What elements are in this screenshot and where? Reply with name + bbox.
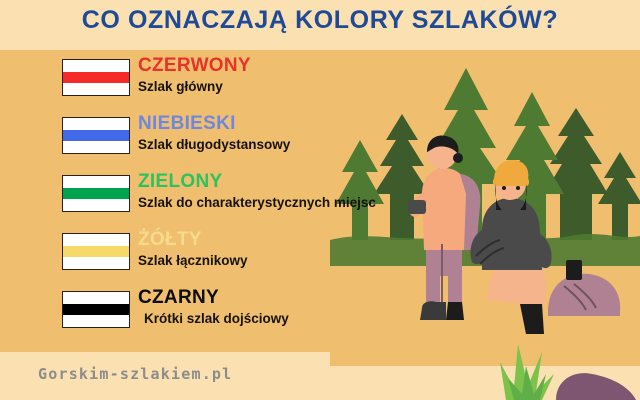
trail-marker-stripe	[63, 72, 129, 84]
legend-description-czarny: Krótki szlak dojściowy	[138, 310, 289, 327]
legend-description-zielony: Szlak do charakterystycznych miejsc	[138, 194, 376, 211]
legend-heading-czerwony: CZERWONY	[138, 55, 251, 76]
trail-marker-zolty	[62, 233, 130, 270]
legend-text-niebieski: NIEBIESKI Szlak długodystansowy	[138, 113, 290, 153]
legend-description-zolty: Szlak łącznikowy	[138, 252, 248, 269]
rock-purple	[556, 373, 636, 400]
trail-marker-stripe	[63, 188, 129, 200]
page-title: CO OZNACZAJĄ KOLORY SZLAKÓW?	[0, 6, 640, 35]
trail-color-legend: CZERWONY Szlak główny NIEBIESKI Szlak dł…	[0, 55, 380, 345]
trail-marker-zielony	[62, 175, 130, 212]
legend-heading-zielony: ZIELONY	[138, 171, 376, 192]
legend-heading-zolty: ŻÓŁTY	[138, 229, 248, 250]
legend-row-niebieski: NIEBIESKI Szlak długodystansowy	[0, 113, 380, 171]
legend-description-czerwony: Szlak główny	[138, 78, 251, 95]
trail-marker-stripe	[63, 246, 129, 258]
legend-row-zielony: ZIELONY Szlak do charakterystycznych mie…	[0, 171, 380, 229]
trail-marker-czarny	[62, 291, 130, 328]
legend-row-czerwony: CZERWONY Szlak główny	[0, 55, 380, 113]
legend-heading-niebieski: NIEBIESKI	[138, 113, 290, 134]
legend-row-czarny: CZARNY Krótki szlak dojściowy	[0, 287, 380, 345]
legend-text-zolty: ŻÓŁTY Szlak łącznikowy	[138, 229, 248, 269]
trail-marker-stripe	[63, 304, 129, 316]
legend-text-czarny: CZARNY Krótki szlak dojściowy	[138, 287, 289, 327]
legend-heading-czarny: CZARNY	[138, 287, 289, 308]
legend-text-zielony: ZIELONY Szlak do charakterystycznych mie…	[138, 171, 376, 211]
trail-marker-stripe	[63, 130, 129, 142]
legend-description-niebieski: Szlak długodystansowy	[138, 136, 290, 153]
legend-text-czerwony: CZERWONY Szlak główny	[138, 55, 251, 95]
footer-site-name: Gorskim-szlakiem.pl	[38, 365, 232, 383]
infographic-page: CO OZNACZAJĄ KOLORY SZLAKÓW? CZERWONY Sz…	[0, 0, 640, 400]
trail-marker-niebieski	[62, 117, 130, 154]
trail-marker-czerwony	[62, 59, 130, 96]
legend-row-zolty: ŻÓŁTY Szlak łącznikowy	[0, 229, 380, 287]
